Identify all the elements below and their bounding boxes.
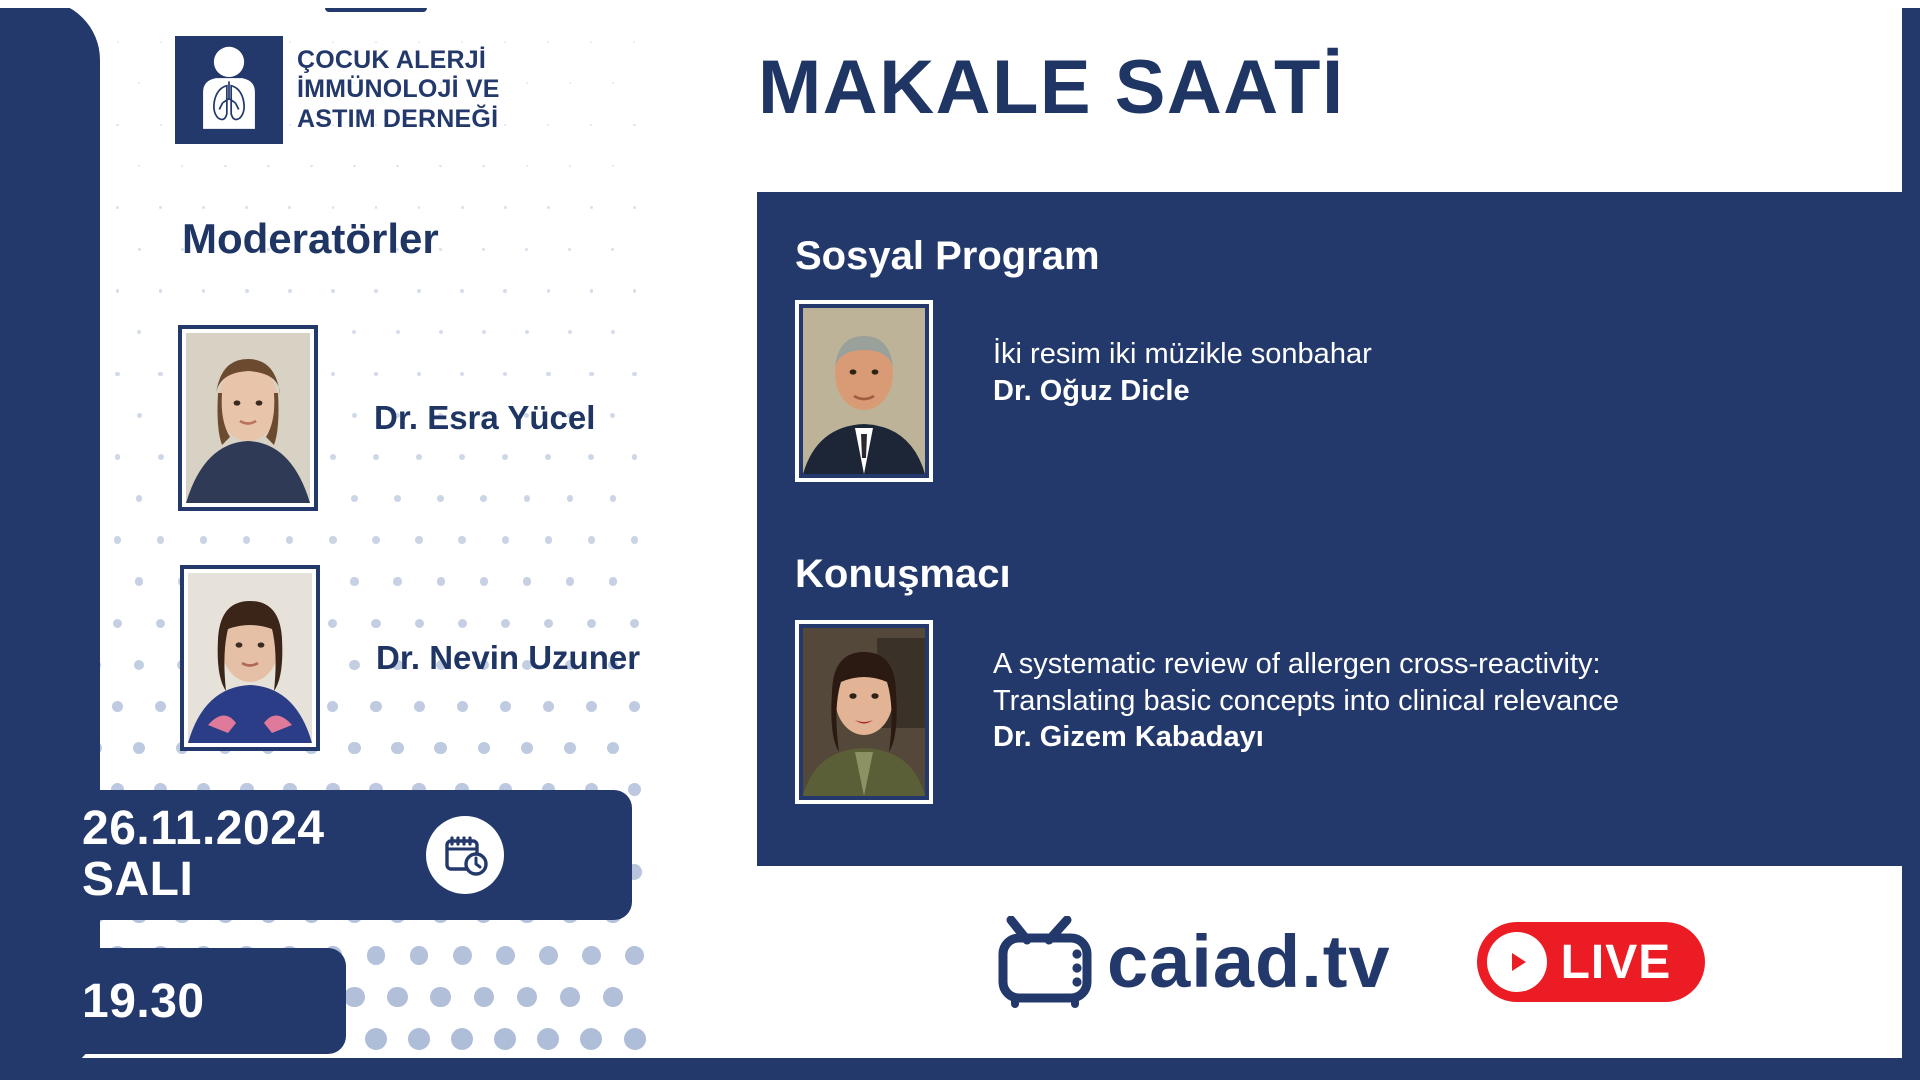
poster-canvas: ÇOCUK ALERJİ İMMÜNOLOJİ VE ASTIM DERNEĞİ… [0,0,1920,1080]
presenter-name: Dr. Gizem Kabadayı [993,721,1619,754]
date-badge: 26.11.2024 SALI [0,790,632,920]
moderator-name: Dr. Esra Yücel [374,399,595,437]
play-triangle-icon [1487,932,1547,992]
avatar [803,308,925,474]
talk-title: A systematic review of allergen cross-re… [993,646,1619,719]
moderator-name: Dr. Nevin Uzuner [376,639,640,677]
event-date: 26.11.2024 SALI [82,804,325,906]
section-heading-social: Sosyal Program [795,234,1100,279]
live-label: LIVE [1561,935,1672,990]
child-lungs-icon [175,36,283,144]
talk-title: İki resim iki müzikle sonbahar [993,336,1372,373]
association-logo: ÇOCUK ALERJİ İMMÜNOLOJİ VE ASTIM DERNEĞİ [175,36,500,144]
calendar-clock-icon [426,816,504,894]
page-title: MAKALE SAATİ [758,44,1345,131]
moderators-heading: Moderatörler [182,215,439,263]
footer-bar: caiad.tv LIVE [757,866,1808,1058]
association-name: ÇOCUK ALERJİ İMMÜNOLOJİ VE ASTIM DERNEĞİ [297,46,500,135]
section-heading-speaker: Konuşmacı [795,552,1011,597]
caiad-tv-logo[interactable]: caiad.tv [997,916,1391,1008]
time-badge: 19.30 [0,948,346,1054]
retro-television-icon [997,916,1105,1008]
presenter-name: Dr. Oğuz Dicle [993,375,1372,408]
program-panel: Sosyal Program [757,192,1920,866]
event-time: 19.30 [82,974,205,1029]
avatar-frame [178,325,318,511]
avatar [186,333,310,503]
program-entry-social: İki resim iki müzikle sonbahar Dr. Oğuz … [795,300,1372,482]
site-url: caiad.tv [1107,925,1391,999]
avatar-frame [795,300,933,482]
moderator-item: Dr. Nevin Uzuner [180,565,640,751]
live-badge[interactable]: LIVE [1477,922,1706,1002]
frame-bottom-edge [0,1058,1920,1080]
avatar [188,573,312,743]
avatar [803,628,925,796]
frame-top-edge [0,0,1920,8]
moderator-item: Dr. Esra Yücel [178,325,595,511]
frame-right-edge [1902,0,1920,1080]
program-entry-speaker: A systematic review of allergen cross-re… [795,620,1619,804]
avatar-frame [180,565,320,751]
avatar-frame [795,620,933,804]
